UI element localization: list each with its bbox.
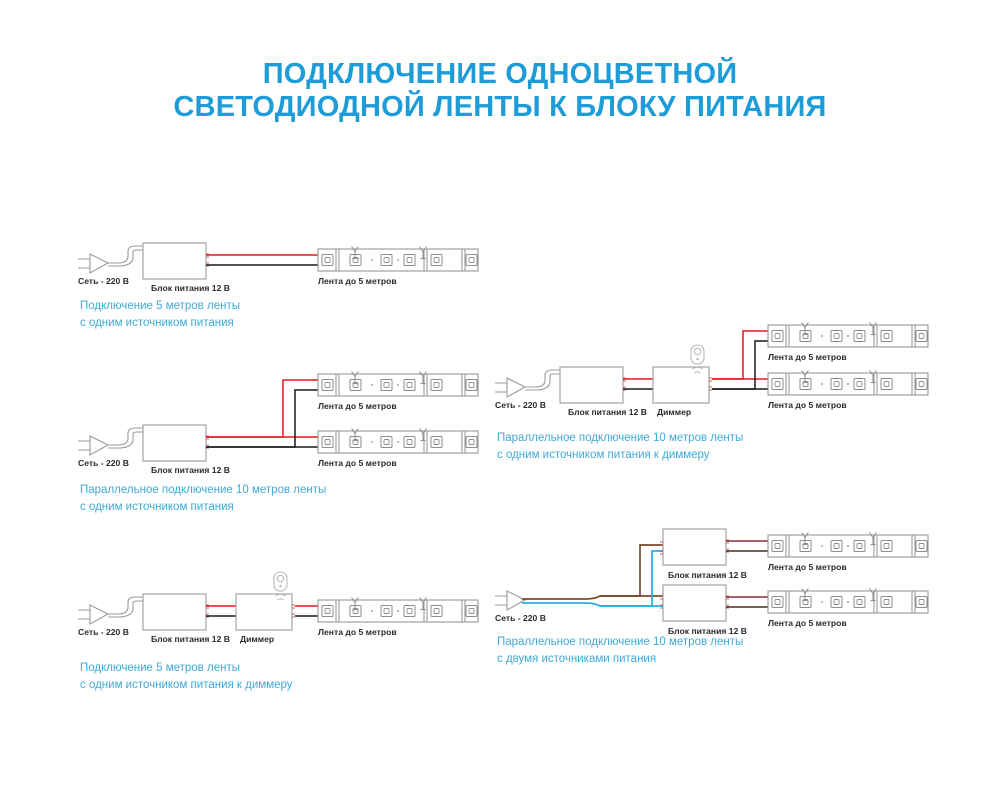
label-mains: Сеть - 220 В <box>78 627 129 637</box>
label-mains: Сеть - 220 В <box>495 613 546 623</box>
caption-line-1: Параллельное подключение 10 метров ленты <box>497 430 917 447</box>
led-strip-2 <box>768 371 928 396</box>
caption-line-2: с одним источником питания <box>80 315 420 332</box>
diagram-1-caption: Подключение 5 метров ленты с одним источ… <box>80 298 420 331</box>
wire-negative-branch-top <box>206 390 318 447</box>
label-led-strip: Лента до 5 метров <box>318 401 397 411</box>
mains-plug-icon <box>78 246 143 273</box>
mains-plug-icon <box>495 370 560 397</box>
diagram-4-caption: Параллельное подключение 10 метров ленты… <box>497 430 917 463</box>
label-power-supply: Блок питания 12 В <box>568 407 647 417</box>
label-dimmer: Диммер <box>657 407 691 417</box>
diagram-5-parallel-two-psu: Сеть - 220 В Блок питания 12 В Блок пита… <box>495 529 928 636</box>
label-led-strip: Лента до 5 метров <box>318 627 397 637</box>
power-supply-box <box>143 425 206 461</box>
diagram-page: ПОДКЛЮЧЕНИЕ ОДНОЦВЕТНОЙ СВЕТОДИОДНОЙ ЛЕН… <box>0 0 1000 800</box>
label-power-supply: Блок питания 12 В <box>668 570 747 580</box>
diagram-4-parallel-dimmer: Сеть - 220 В Блок питания 12 В Диммер <box>495 323 928 418</box>
led-strip-1 <box>318 598 478 623</box>
label-mains: Сеть - 220 В <box>78 276 129 286</box>
wire-negative-branch-top <box>712 341 768 389</box>
caption-line-1: Параллельное подключение 10 метров ленты <box>497 634 917 651</box>
label-led-strip: Лента до 5 метров <box>768 618 847 628</box>
label-mains: Сеть - 220 В <box>495 400 546 410</box>
caption-line-2: с одним источником питания к диммеру <box>497 447 917 464</box>
label-dimmer: Диммер <box>240 634 274 644</box>
diagram-2-parallel-two-strips: Сеть - 220 В Блок питания 12 В <box>78 372 478 476</box>
label-led-strip: Лента до 5 метров <box>768 562 847 572</box>
led-strip-1 <box>768 323 928 348</box>
caption-line-1: Подключение 5 метров ленты <box>80 660 480 677</box>
led-strip-1 <box>318 372 478 397</box>
mains-plug-icon <box>78 428 143 455</box>
wiring-diagrams-canvas: .ln-out{fill:none;stroke:#9a9a9a;stroke-… <box>0 0 1000 800</box>
diagram-3-single-strip-dimmer: Сеть - 220 В Блок питания 12 В Диммер <box>78 572 478 644</box>
label-power-supply: Блок питания 12 В <box>151 283 230 293</box>
led-strip-1 <box>318 247 478 272</box>
diagram-2-caption: Параллельное подключение 10 метров ленты… <box>80 482 480 515</box>
power-supply-box-top <box>663 529 726 565</box>
label-power-supply: Блок питания 12 В <box>151 465 230 475</box>
diagram-3-caption: Подключение 5 метров ленты с одним источ… <box>80 660 480 693</box>
power-supply-box <box>143 594 206 630</box>
power-supply-box <box>560 367 623 403</box>
wire-line-to-psu-top <box>522 545 663 599</box>
label-mains: Сеть - 220 В <box>78 458 129 468</box>
caption-line-2: с одним источником питания <box>80 499 480 516</box>
diagram-5-caption: Параллельное подключение 10 метров ленты… <box>497 634 917 667</box>
caption-line-2: с одним источником питания к диммеру <box>80 677 480 694</box>
caption-line-1: Параллельное подключение 10 метров ленты <box>80 482 480 499</box>
label-led-strip: Лента до 5 метров <box>318 458 397 468</box>
caption-line-1: Подключение 5 метров ленты <box>80 298 420 315</box>
led-strip-1 <box>768 533 928 558</box>
power-supply-box <box>143 243 206 279</box>
wire-positive-branch-top <box>206 380 318 437</box>
label-led-strip: Лента до 5 метров <box>318 276 397 286</box>
power-supply-box-bottom <box>663 585 726 621</box>
wire-positive-branch-top <box>712 331 768 379</box>
led-strip-2 <box>318 429 478 454</box>
caption-line-2: с двумя источниками питания <box>497 651 917 668</box>
mains-plug-icon <box>495 591 525 610</box>
label-led-strip: Лента до 5 метров <box>768 400 847 410</box>
label-power-supply: Блок питания 12 В <box>151 634 230 644</box>
led-strip-2 <box>768 589 928 614</box>
label-led-strip: Лента до 5 метров <box>768 352 847 362</box>
diagram-1-single-strip: Сеть - 220 В Блок питания 12 В <box>78 243 478 293</box>
mains-plug-icon <box>78 597 143 624</box>
